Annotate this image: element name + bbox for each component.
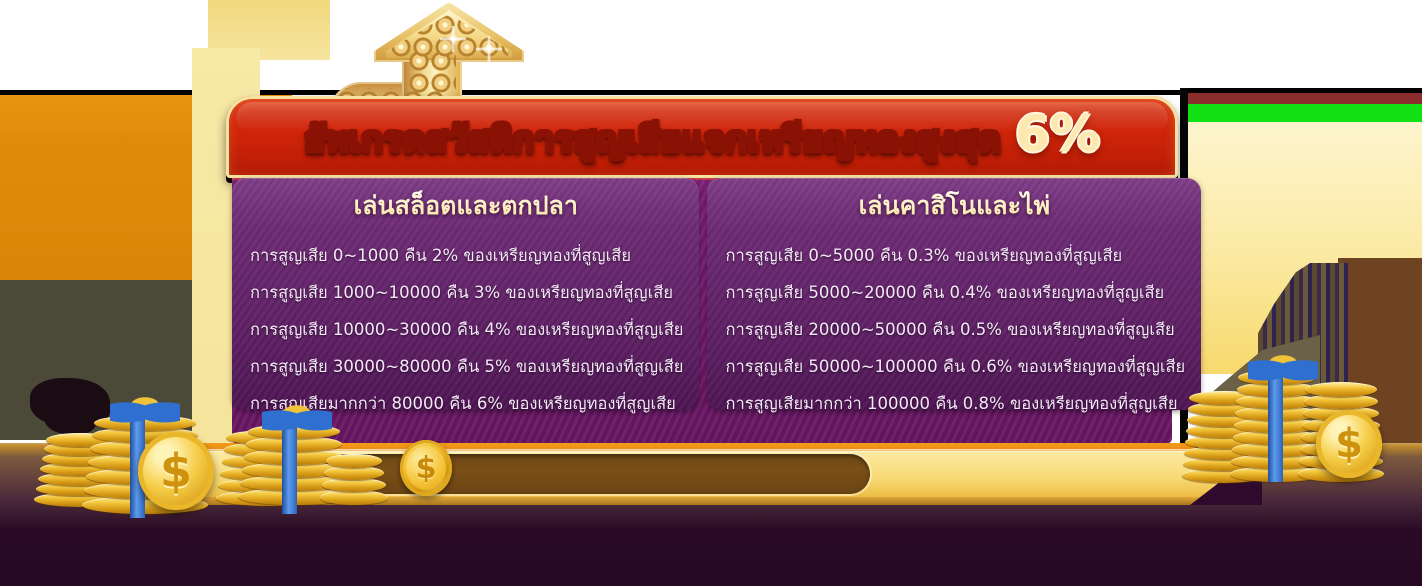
column-casino-cards: เล่นคาสิโนและไพ่ การสูญเสีย 0~5000 คืน 0… bbox=[707, 178, 1201, 410]
rebate-columns: เล่นสล็อตและตกปลา การสูญเสีย 0~1000 คืน … bbox=[232, 178, 1176, 410]
bottom-ribbon-bar bbox=[150, 443, 1260, 505]
list-item: การสูญเสียมากกว่า 80000 คืน 6% ของเหรียญ… bbox=[248, 385, 683, 422]
column-heading: เล่นคาสิโนและไพ่ bbox=[723, 184, 1185, 231]
rebate-tier-list: การสูญเสีย 0~1000 คืน 2% ของเหรียญทองที่… bbox=[248, 237, 683, 423]
list-item: การสูญเสีย 0~5000 คืน 0.3% ของเหรียญทองท… bbox=[723, 237, 1185, 274]
background-black-divider-right bbox=[1186, 88, 1422, 93]
list-item: การสูญเสีย 5000~20000 คืน 0.4% ของเหรียญ… bbox=[723, 274, 1185, 311]
list-item: การสูญเสีย 50000~100000 คืน 0.6% ของเหรี… bbox=[723, 348, 1185, 385]
list-item: การสูญเสีย 10000~30000 คืน 4% ของเหรียญท… bbox=[248, 311, 683, 348]
column-heading: เล่นสล็อตและตกปลา bbox=[248, 184, 683, 231]
title-percent-badge: 6% bbox=[1015, 109, 1100, 159]
background-brown-block-right bbox=[1338, 258, 1422, 448]
list-item: การสูญเสีย 30000~80000 คืน 5% ของเหรียญท… bbox=[248, 348, 683, 385]
panel-title-bar: อัพเกรดสวัสดิการสูญเสียแจกเหรียญทองสูงสุ… bbox=[226, 96, 1178, 178]
list-item: การสูญเสียมากกว่า 100000 คืน 0.8% ของเหร… bbox=[723, 385, 1185, 422]
page-title: อัพเกรดสวัสดิการสูญเสียแจกเหรียญทองสูงสุ… bbox=[304, 112, 1001, 167]
list-item: การสูญเสีย 0~1000 คืน 2% ของเหรียญทองที่… bbox=[248, 237, 683, 274]
list-item: การสูญเสีย 1000~10000 คืน 3% ของเหรียญทอ… bbox=[248, 274, 683, 311]
rebate-tier-list: การสูญเสีย 0~5000 คืน 0.3% ของเหรียญทองท… bbox=[723, 237, 1185, 423]
ribbon-text-field[interactable] bbox=[298, 454, 870, 494]
background-green-band-right bbox=[1186, 104, 1422, 122]
banner-stage: อัพเกรดสวัสดิการสูญเสียแจกเหรียญทองสูงสุ… bbox=[0, 0, 1422, 586]
coin-symbol: $ bbox=[406, 446, 446, 490]
dollar-coin-icon: $ bbox=[400, 440, 452, 496]
column-slots-fishing: เล่นสล็อตและตกปลา การสูญเสีย 0~1000 คืน … bbox=[232, 178, 699, 410]
list-item: การสูญเสีย 20000~50000 คืน 0.5% ของเหรีย… bbox=[723, 311, 1185, 348]
